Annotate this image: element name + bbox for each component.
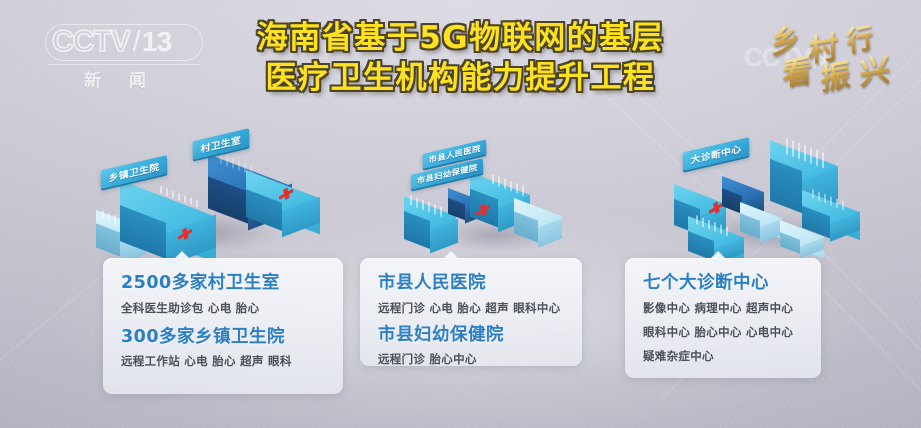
graphic-label-diagnosis-center: 大诊断中心	[683, 137, 750, 171]
program-logo-char-5: 振	[819, 49, 851, 98]
building-block-pale-right	[514, 198, 576, 248]
logo-oval-outline	[45, 24, 203, 61]
broadcast-screen: CCTV / 13 新 闻 海南省基于5G物联网的基层 医疗卫生机构能力提升工程…	[0, 0, 921, 428]
graphic-city-county-hospitals: 市县人民医院 市县妇幼保健院	[404, 140, 584, 256]
card3-detail-3: 疑难杂症中心	[643, 348, 803, 365]
program-logo-char-6: 兴	[858, 43, 890, 93]
program-logo-rural-revitalization: 乡 村 行 看 振 兴	[756, 14, 908, 92]
info-card-diagnosis-centers: 七个大诊断中心 影像中心 病理中心 超声中心 眼科中心 胎心中心 心电中心 疑难…	[625, 258, 821, 378]
card2-heading-1: 市县人民医院	[378, 272, 564, 295]
card2-detail-2: 远程门诊 胎心中心	[378, 351, 564, 368]
graphic-township-village-clinics: 乡镇卫生院 村卫生室	[96, 128, 306, 258]
card2-detail-1: 远程门诊 心电 胎心 超声 眼科中心	[378, 300, 564, 317]
card2-heading-2: 市县妇幼保健院	[378, 324, 564, 347]
card1-heading-1: 2500多家村卫生室	[121, 272, 325, 295]
graphic-diagnosis-centers: 大诊断中心	[662, 128, 872, 258]
card3-detail-1: 影像中心 病理中心 超声中心	[643, 300, 803, 317]
card1-detail-2: 远程工作站 心电 胎心 超声 眼科	[121, 353, 325, 370]
card1-detail-1: 全科医生助诊包 心电 胎心	[121, 300, 325, 317]
card1-heading-2: 300多家乡镇卫生院	[121, 326, 325, 349]
building-block-pale-front	[780, 220, 836, 256]
info-card-village-clinics: 2500多家村卫生室 全科医生助诊包 心电 胎心 300多家乡镇卫生院 远程工作…	[103, 258, 343, 394]
logo-subtitle-news: 新 闻	[84, 66, 157, 91]
program-logo-char-4: 看	[781, 46, 812, 94]
info-card-county-hospitals: 市县人民医院 远程门诊 心电 胎心 超声 眼科中心 市县妇幼保健院 远程门诊 胎…	[360, 258, 582, 366]
card3-detail-2: 眼科中心 胎心中心 心电中心	[643, 324, 803, 341]
cctv13-channel-logo: CCTV / 13 新 闻	[52, 24, 202, 86]
card3-heading-1: 七个大诊断中心	[643, 272, 803, 295]
building-block-village-clinic	[246, 170, 340, 234]
